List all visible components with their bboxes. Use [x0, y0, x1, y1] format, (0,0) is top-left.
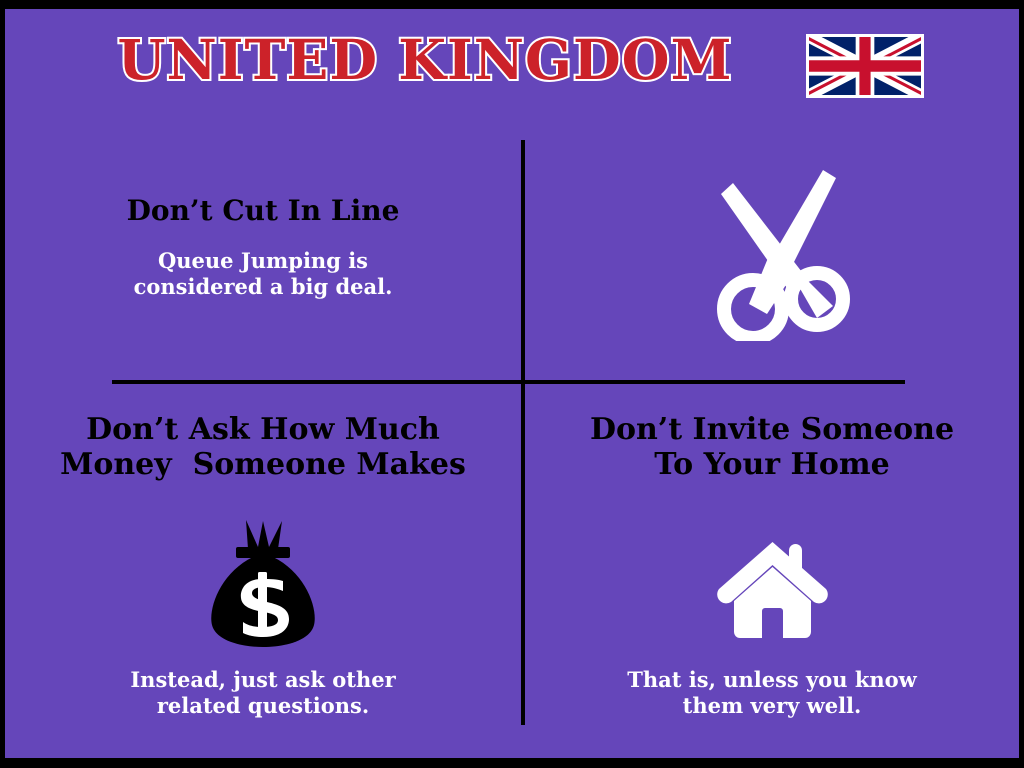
house-icon — [715, 534, 830, 642]
quadrant-subtext-money: Instead, just ask other related question… — [63, 667, 463, 718]
quadrant-bottom-right: Don’t Invite Someone To Your Home That i… — [525, 384, 1019, 729]
money-bag-svg — [208, 517, 318, 647]
scissors-svg — [705, 166, 855, 341]
scissors-icon — [705, 166, 855, 341]
infographic-poster: UNITED KINGDOM Don’t Cut In Line — [0, 0, 1024, 768]
union-jack-svg — [809, 37, 921, 95]
quadrant-top-left: Don’t Cut In Line Queue Jumping is consi… — [5, 140, 521, 380]
quadrant-bottom-left: Don’t Ask How Much Money Someone Makes — [5, 384, 521, 729]
poster-header: UNITED KINGDOM — [5, 9, 1019, 129]
quadrant-heading-invite-home: Don’t Invite Someone To Your Home — [525, 412, 1019, 483]
union-jack-flag-icon — [806, 34, 924, 98]
house-svg — [715, 534, 830, 642]
quadrant-heading-money: Don’t Ask How Much Money Someone Makes — [5, 412, 521, 483]
poster-canvas: UNITED KINGDOM Don’t Cut In Line — [5, 9, 1019, 758]
page-title: UNITED KINGDOM — [105, 31, 745, 89]
money-bag-icon — [208, 517, 318, 647]
quadrant-top-right — [525, 140, 1019, 380]
quadrant-subtext-invite-home: That is, unless you know them very well. — [582, 667, 962, 718]
quadrant-subtext-cut-in-line: Queue Jumping is considered a big deal. — [63, 248, 463, 299]
quadrant-heading-cut-in-line: Don’t Cut In Line — [5, 194, 521, 227]
